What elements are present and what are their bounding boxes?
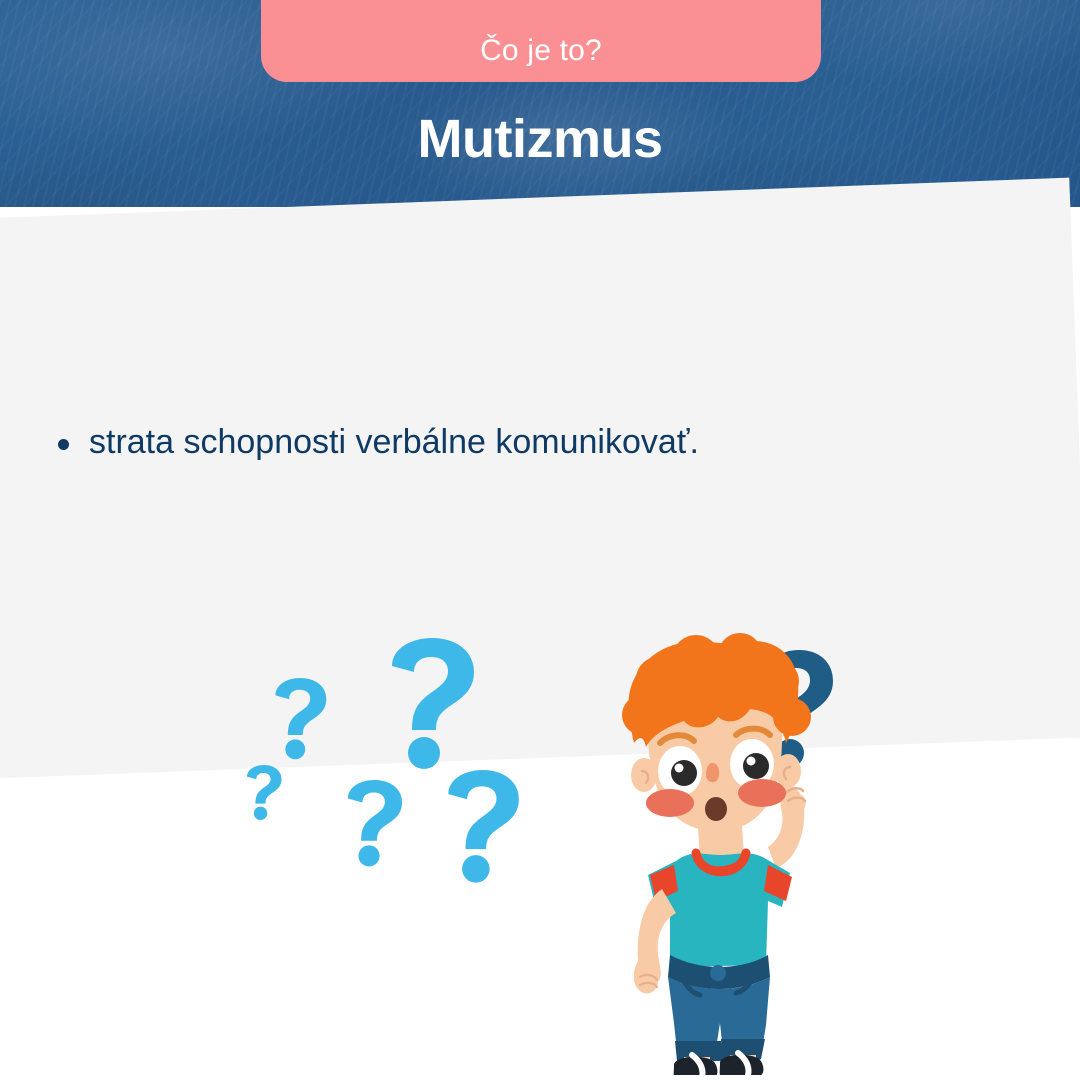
category-badge-label: Čo je to? bbox=[480, 36, 602, 66]
question-marks-cluster-icon bbox=[240, 630, 560, 920]
illustration-area bbox=[0, 600, 1080, 1080]
slide-canvas: Čo je to? Mutizmus strata schopnosti ver… bbox=[0, 0, 1080, 1080]
bullet-text: strata schopnosti verbálne komunikovať. bbox=[89, 420, 1018, 466]
bullet-list: strata schopnosti verbálne komunikovať. bbox=[58, 420, 1018, 466]
bullet-dot-icon bbox=[58, 439, 69, 450]
category-badge: Čo je to? bbox=[261, 0, 821, 82]
list-item: strata schopnosti verbálne komunikovať. bbox=[58, 420, 1018, 466]
page-title: Mutizmus bbox=[0, 112, 1080, 166]
boy-character-illustration bbox=[600, 625, 860, 1075]
header-banner: Čo je to? Mutizmus bbox=[0, 0, 1080, 207]
